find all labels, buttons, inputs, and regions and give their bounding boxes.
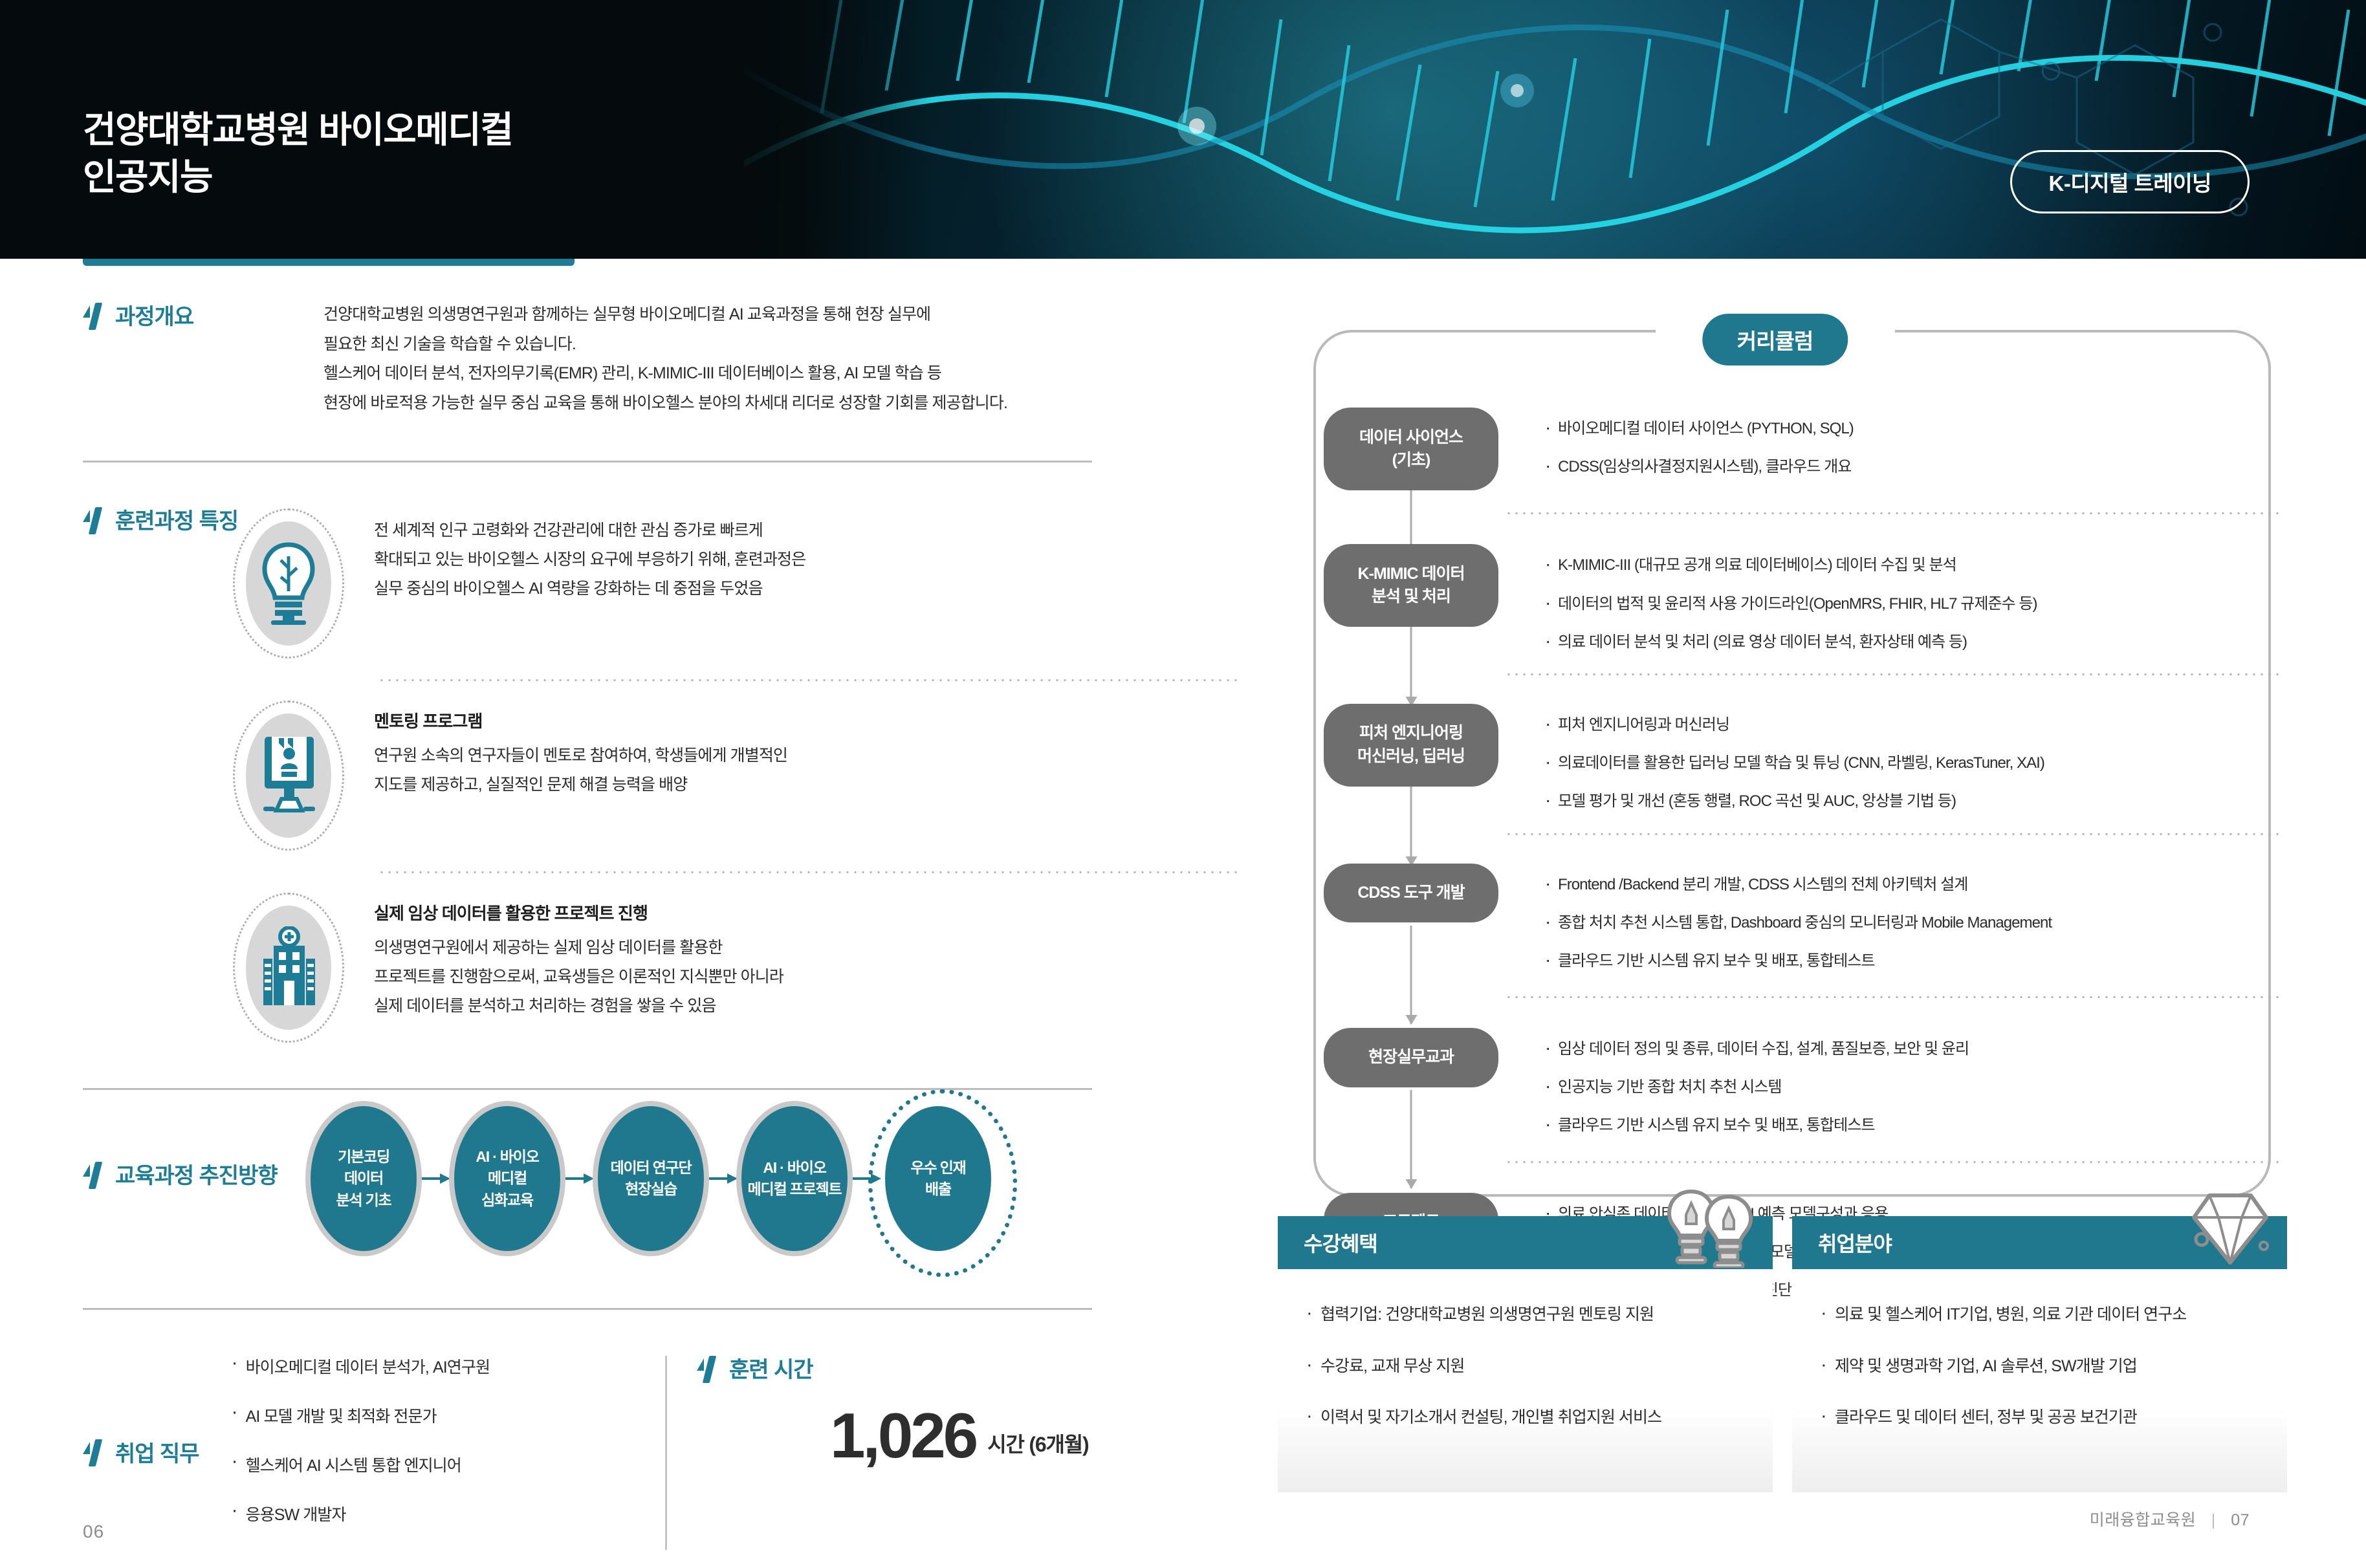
field-item: 의료 및 헬스케어 IT기업, 병원, 의료 기관 데이터 연구소 bbox=[1818, 1303, 2261, 1327]
roadmap-node[interactable]: 기본코딩 데이터 분석 기초 bbox=[311, 1106, 417, 1251]
stage-label: K-MIMIC 데이터 분석 및 처리 bbox=[1358, 563, 1465, 609]
flow-arrow-icon bbox=[560, 1171, 598, 1186]
feature-item: 실제 임상 데이터를 활용한 프로젝트 진행 의생명연구원에서 제공하는 실제 … bbox=[230, 873, 1092, 1063]
dna-helix-graphic bbox=[744, 0, 2366, 259]
list-item: 응용SW 개발자 bbox=[228, 1502, 490, 1525]
curriculum-item: 모델 평가 및 개선 (혼동 행렬, ROC 곡선 및 AUC, 앙상블 기법 … bbox=[1542, 789, 2288, 813]
overview-paragraph: 현장에 바로적용 가능한 실무 중심 교육을 통해 바이오헬스 분야의 차세대 … bbox=[323, 389, 1087, 419]
monitor-mentoring-icon bbox=[230, 698, 347, 853]
lightbulb-icon bbox=[230, 506, 347, 661]
roadmap-flow: 기본코딩 데이터 분석 기초 AI · 바이오 메디컬 심화교육 데이터 연구단… bbox=[311, 1106, 991, 1251]
vertical-divider bbox=[665, 1356, 667, 1550]
jobs-and-hours: 취업 직무 바이오메디컬 데이터 분석가, AI연구원 AI 모델 개발 및 최… bbox=[83, 1352, 1118, 1551]
fields-header: 취업분야 bbox=[1792, 1216, 2287, 1269]
bottom-panels: 수강혜택 bbox=[1278, 1216, 2287, 1492]
curriculum-item: 종합 처치 추천 시스템 통합, Dashboard 중심의 모니터링과 Mob… bbox=[1542, 911, 2288, 935]
curriculum-item: 의료 데이터 분석 및 처리 (의료 영상 데이터 분석, 환자상태 예측 등) bbox=[1542, 630, 2288, 654]
page-header: 건양대학교병원 바이오메디컬 인공지능 K-디지털 트레이닝 bbox=[0, 0, 2366, 259]
feature-title: 멘토링 프로그램 bbox=[374, 708, 1092, 732]
curriculum-rows: 데이터 사이언스 (기초) 바이오메디컬 데이터 사이언스 (PYTHON, S… bbox=[1317, 408, 2288, 1316]
roadmap-node-label: 기본코딩 데이터 분석 기초 bbox=[336, 1146, 391, 1211]
roadmap-node-label: AI · 바이오 메디컬 프로젝트 bbox=[748, 1157, 842, 1201]
feature-line: 프로젝트를 진행함으로써, 교육생들은 이론적인 지식뿐만 아니라 bbox=[374, 963, 1092, 992]
diamond-icon bbox=[2185, 1186, 2275, 1273]
roadmap-node-final[interactable]: 우수 인재 배출 bbox=[885, 1106, 991, 1251]
curriculum-divider bbox=[1505, 512, 2281, 514]
feature-title: 실제 임상 데이터를 활용한 프로젝트 진행 bbox=[374, 900, 1092, 924]
brochure-page: 건양대학교병원 바이오메디컬 인공지능 K-디지털 트레이닝 과정개요 건양대학… bbox=[0, 0, 2366, 1568]
section-marker-icon bbox=[83, 1437, 105, 1466]
jobs-section: 취업 직무 바이오메디컬 데이터 분석가, AI연구원 AI 모델 개발 및 최… bbox=[83, 1352, 665, 1551]
list-item: AI 모델 개발 및 최적화 전문가 bbox=[228, 1404, 490, 1427]
curriculum-divider bbox=[1505, 673, 2281, 675]
benefits-body: 협력기업: 건양대학교병원 의생명연구원 멘토링 지원 수강료, 교재 무상 지… bbox=[1278, 1269, 1773, 1492]
feature-line: 연구원 소속의 연구자들이 멘토로 참여하여, 학생들에게 개별적인 bbox=[374, 741, 1092, 770]
header-gradient-fade bbox=[712, 0, 932, 259]
flow-connector bbox=[1410, 926, 1412, 1024]
flow-connector bbox=[1410, 787, 1412, 866]
benefits-panel: 수강혜택 bbox=[1278, 1216, 1773, 1492]
overview-body: 건양대학교병원 의생명연구원과 함께하는 실무형 바이오메디컬 AI 교육과정을… bbox=[323, 300, 1087, 418]
curriculum-item: 피처 엔지니어링과 머신러닝 bbox=[1542, 713, 2288, 737]
curriculum-items: 피처 엔지니어링과 머신러닝 의료데이터를 활용한 딥러닝 모델 학습 및 튜닝… bbox=[1505, 704, 2288, 828]
stage-column: 피처 엔지니어링 머신러닝, 딥러닝 bbox=[1317, 704, 1505, 787]
page-title-line1: 건양대학교병원 바이오메디컬 bbox=[83, 109, 512, 150]
curriculum-item: 클라우드 기반 시스템 유지 보수 및 배포, 통합테스트 bbox=[1542, 949, 2288, 973]
page-number-right: 07 bbox=[2231, 1511, 2250, 1529]
list-item: 헬스케어 AI 시스템 통합 엔지니어 bbox=[228, 1453, 490, 1476]
list-item: 바이오메디컬 데이터 분석가, AI연구원 bbox=[228, 1355, 490, 1378]
overview-paragraph: 헬스케어 데이터 분석, 전자의무기록(EMR) 관리, K-MIMIC-III… bbox=[323, 359, 1087, 389]
curriculum-divider bbox=[1505, 1161, 2281, 1163]
flow-connector bbox=[1410, 627, 1412, 706]
curriculum-stage-pill[interactable]: CDSS 도구 개발 bbox=[1324, 864, 1498, 923]
features-heading-label: 훈련과정 특징 bbox=[115, 503, 238, 535]
curriculum-items: 바이오메디컬 데이터 사이언스 (PYTHON, SQL) CDSS(임상의사결… bbox=[1505, 408, 2288, 493]
roadmap-node-label: AI · 바이오 메디컬 심화교육 bbox=[476, 1146, 538, 1211]
divider-rule bbox=[83, 461, 1092, 463]
field-item: 클라우드 및 데이터 센터, 정부 및 공공 보건기관 bbox=[1818, 1406, 2261, 1430]
overview-paragraph: 건양대학교병원 의생명연구원과 함께하는 실무형 바이오메디컬 AI 교육과정을… bbox=[323, 300, 1087, 330]
curriculum-stage-pill[interactable]: 피처 엔지니어링 머신러닝, 딥러닝 bbox=[1324, 704, 1498, 787]
course-overview-section: 과정개요 건양대학교병원 의생명연구원과 함께하는 실무형 바이오메디컬 AI … bbox=[83, 299, 1092, 331]
roadmap-node[interactable]: 데이터 연구단 현장실습 bbox=[598, 1106, 704, 1251]
feature-text: 전 세계적 인구 고령화와 건강관리에 대한 관심 증가로 빠르게 확대되고 있… bbox=[374, 506, 1092, 604]
feature-line: 의생명연구원에서 제공하는 실제 임상 데이터를 활용한 bbox=[374, 933, 1092, 963]
curriculum-badge: 커리큘럼 bbox=[1702, 314, 1848, 365]
curriculum-items: 임상 데이터 정의 및 종류, 데이터 수집, 설계, 품질보증, 보안 및 윤… bbox=[1505, 1028, 2288, 1152]
curriculum-stage-pill[interactable]: 데이터 사이언스 (기초) bbox=[1324, 408, 1498, 490]
curriculum-item: Frontend /Backend 분리 개발, CDSS 시스템의 전체 아키… bbox=[1542, 873, 2288, 897]
section-marker-icon bbox=[83, 505, 105, 534]
stage-label: 현장실무교과 bbox=[1368, 1046, 1454, 1069]
curriculum-items: Frontend /Backend 분리 개발, CDSS 시스템의 전체 아키… bbox=[1505, 864, 2288, 988]
roadmap-node[interactable]: AI · 바이오 메디컬 프로젝트 bbox=[741, 1106, 848, 1251]
curriculum-item: 데이터의 법적 및 윤리적 사용 가이드라인(OpenMRS, FHIR, HL… bbox=[1542, 592, 2288, 616]
curriculum-row: 피처 엔지니어링 머신러닝, 딥러닝 피처 엔지니어링과 머신러닝 의료데이터를… bbox=[1317, 704, 2288, 828]
hospital-icon bbox=[230, 890, 347, 1045]
divider-rule bbox=[83, 1308, 1092, 1310]
jobs-heading-label: 취업 직무 bbox=[115, 1436, 199, 1468]
overview-paragraph: 필요한 최신 기술을 학습할 수 있습니다. bbox=[323, 330, 1087, 360]
feature-list: 전 세계적 인구 고령화와 건강관리에 대한 관심 증가로 빠르게 확대되고 있… bbox=[230, 489, 1092, 1063]
flow-connector bbox=[1410, 1090, 1412, 1188]
feature-line: 실무 중심의 바이오헬스 AI 역량을 강화하는 데 중점을 두었음 bbox=[374, 574, 1092, 604]
roadmap-node[interactable]: AI · 바이오 메디컬 심화교육 bbox=[454, 1106, 560, 1251]
fields-heading-label: 취업분야 bbox=[1818, 1228, 1892, 1258]
hours-number: 1,026 bbox=[830, 1406, 976, 1466]
curriculum-item: 의료데이터를 활용한 딥러닝 모델 학습 및 튜닝 (CNN, 라벨링, Ker… bbox=[1542, 751, 2288, 775]
kdt-badge[interactable]: K-디지털 트레이닝 bbox=[2010, 150, 2250, 213]
curriculum-row: 현장실무교과 임상 데이터 정의 및 종류, 데이터 수집, 설계, 품질보증,… bbox=[1317, 1028, 2288, 1152]
section-marker-icon bbox=[83, 1159, 105, 1189]
two-lightbulbs-icon bbox=[1664, 1186, 1761, 1273]
benefit-item: 협력기업: 건양대학교병원 의생명연구원 멘토링 지원 bbox=[1304, 1303, 1747, 1327]
page-title: 건양대학교병원 바이오메디컬 인공지능 bbox=[83, 107, 512, 201]
flow-arrow-icon bbox=[704, 1171, 741, 1186]
footer-org: 미래융합교육원 bbox=[2090, 1511, 2196, 1529]
feature-item: 멘토링 프로그램 연구원 소속의 연구자들이 멘토로 참여하여, 학생들에게 개… bbox=[230, 681, 1092, 871]
feature-text: 멘토링 프로그램 연구원 소속의 연구자들이 멘토로 참여하여, 학생들에게 개… bbox=[374, 698, 1092, 800]
fields-body: 의료 및 헬스케어 IT기업, 병원, 의료 기관 데이터 연구소 제약 및 생… bbox=[1792, 1269, 2287, 1492]
fields-panel: 취업분야 bbox=[1792, 1216, 2287, 1492]
feature-line: 전 세계적 인구 고령화와 건강관리에 대한 관심 증가로 빠르게 bbox=[374, 516, 1092, 545]
curriculum-divider bbox=[1505, 833, 2281, 835]
curriculum-divider bbox=[1505, 996, 2281, 998]
curriculum-item: CDSS(임상의사결정지원시스템), 클라우드 개요 bbox=[1542, 455, 2288, 479]
feature-line: 지도를 제공하고, 실질적인 문제 해결 능력을 배양 bbox=[374, 770, 1092, 800]
feature-line: 실제 데이터를 분석하고 처리하는 경험을 쌓을 수 있음 bbox=[374, 992, 1092, 1021]
roadmap-node-label: 데이터 연구단 현장실습 bbox=[611, 1157, 692, 1201]
benefits-heading-label: 수강혜택 bbox=[1304, 1228, 1377, 1258]
curriculum-stage-pill[interactable]: 현장실무교과 bbox=[1324, 1028, 1498, 1087]
page-title-line2: 인공지능 bbox=[83, 154, 512, 201]
curriculum-item: K-MIMIC-III (대규모 공개 의료 데이터베이스) 데이터 수집 및 … bbox=[1542, 553, 2288, 577]
curriculum-row: K-MIMIC 데이터 분석 및 처리 K-MIMIC-III (대규모 공개 … bbox=[1317, 544, 2288, 668]
feature-line: 확대되고 있는 바이오헬스 시장의 요구에 부응하기 위해, 훈련과정은 bbox=[374, 545, 1092, 574]
curriculum-row: CDSS 도구 개발 Frontend /Backend 분리 개발, CDSS… bbox=[1317, 864, 2288, 988]
left-page: 과정개요 건양대학교병원 의생명연구원과 함께하는 실무형 바이오메디컬 AI … bbox=[0, 259, 1184, 1568]
roadmap-heading: 교육과정 추진방향 bbox=[83, 1158, 278, 1190]
footer-separator: | bbox=[2201, 1511, 2226, 1529]
benefit-item: 수강료, 교재 무상 지원 bbox=[1304, 1355, 1747, 1379]
overview-heading-label: 과정개요 bbox=[115, 299, 193, 331]
stage-label: 피처 엔지니어링 머신러닝, 딥러닝 bbox=[1357, 722, 1465, 768]
roadmap-node-label: 우수 인재 배출 bbox=[910, 1157, 965, 1201]
hours-heading: 훈련 시간 bbox=[697, 1352, 1118, 1384]
field-item: 제약 및 생명과학 기업, AI 솔루션, SW개발 기업 bbox=[1818, 1355, 2261, 1379]
training-hours-section: 훈련 시간 1,026 시간 (6개월) bbox=[697, 1352, 1118, 1551]
curriculum-item: 임상 데이터 정의 및 종류, 데이터 수집, 설계, 품질보증, 보안 및 윤… bbox=[1542, 1037, 2288, 1061]
section-marker-icon bbox=[697, 1353, 719, 1383]
curriculum-row: 데이터 사이언스 (기초) 바이오메디컬 데이터 사이언스 (PYTHON, S… bbox=[1317, 408, 2288, 493]
curriculum-item: 인공지능 기반 종합 처치 추천 시스템 bbox=[1542, 1075, 2288, 1099]
feature-text: 실제 임상 데이터를 활용한 프로젝트 진행 의생명연구원에서 제공하는 실제 … bbox=[374, 890, 1092, 1021]
right-page: 커리큘럼 데이터 사이언스 (기초) 바이오메디컬 데이터 사이언스 (PYTH… bbox=[1184, 259, 2366, 1568]
roadmap-heading-label: 교육과정 추진방향 bbox=[115, 1158, 278, 1190]
benefit-item: 이력서 및 자기소개서 컨설팅, 개인별 취업지원 서비스 bbox=[1304, 1406, 1747, 1430]
hours-value-row: 1,026 시간 (6개월) bbox=[830, 1406, 1118, 1466]
hours-unit: 시간 (6개월) bbox=[987, 1428, 1088, 1466]
stage-column: CDSS 도구 개발 bbox=[1317, 864, 1505, 923]
jobs-list: 바이오메디컬 데이터 분석가, AI연구원 AI 모델 개발 및 최적화 전문가… bbox=[228, 1352, 490, 1551]
stage-column: K-MIMIC 데이터 분석 및 처리 bbox=[1317, 544, 1505, 627]
stage-label: 데이터 사이언스 (기초) bbox=[1359, 426, 1463, 472]
benefits-header: 수강혜택 bbox=[1278, 1216, 1773, 1269]
hours-heading-label: 훈련 시간 bbox=[729, 1352, 813, 1384]
flow-arrow-icon bbox=[417, 1171, 454, 1186]
curriculum-items: K-MIMIC-III (대규모 공개 의료 데이터베이스) 데이터 수집 및 … bbox=[1505, 544, 2288, 668]
stage-column: 데이터 사이언스 (기초) bbox=[1317, 408, 1505, 490]
stage-label: CDSS 도구 개발 bbox=[1357, 882, 1464, 905]
footer-right: 미래융합교육원 | 07 bbox=[2090, 1507, 2250, 1530]
section-marker-icon bbox=[83, 300, 105, 330]
curriculum-item: 바이오메디컬 데이터 사이언스 (PYTHON, SQL) bbox=[1542, 417, 2288, 441]
curriculum-stage-pill[interactable]: K-MIMIC 데이터 분석 및 처리 bbox=[1324, 544, 1498, 627]
stage-column: 현장실무교과 bbox=[1317, 1028, 1505, 1087]
page-number-left: 06 bbox=[83, 1521, 104, 1542]
feature-item: 전 세계적 인구 고령화와 건강관리에 대한 관심 증가로 빠르게 확대되고 있… bbox=[230, 489, 1092, 679]
features-heading: 훈련과정 특징 bbox=[83, 503, 238, 535]
curriculum-item: 클라우드 기반 시스템 유지 보수 및 배포, 통합테스트 bbox=[1542, 1113, 2288, 1137]
